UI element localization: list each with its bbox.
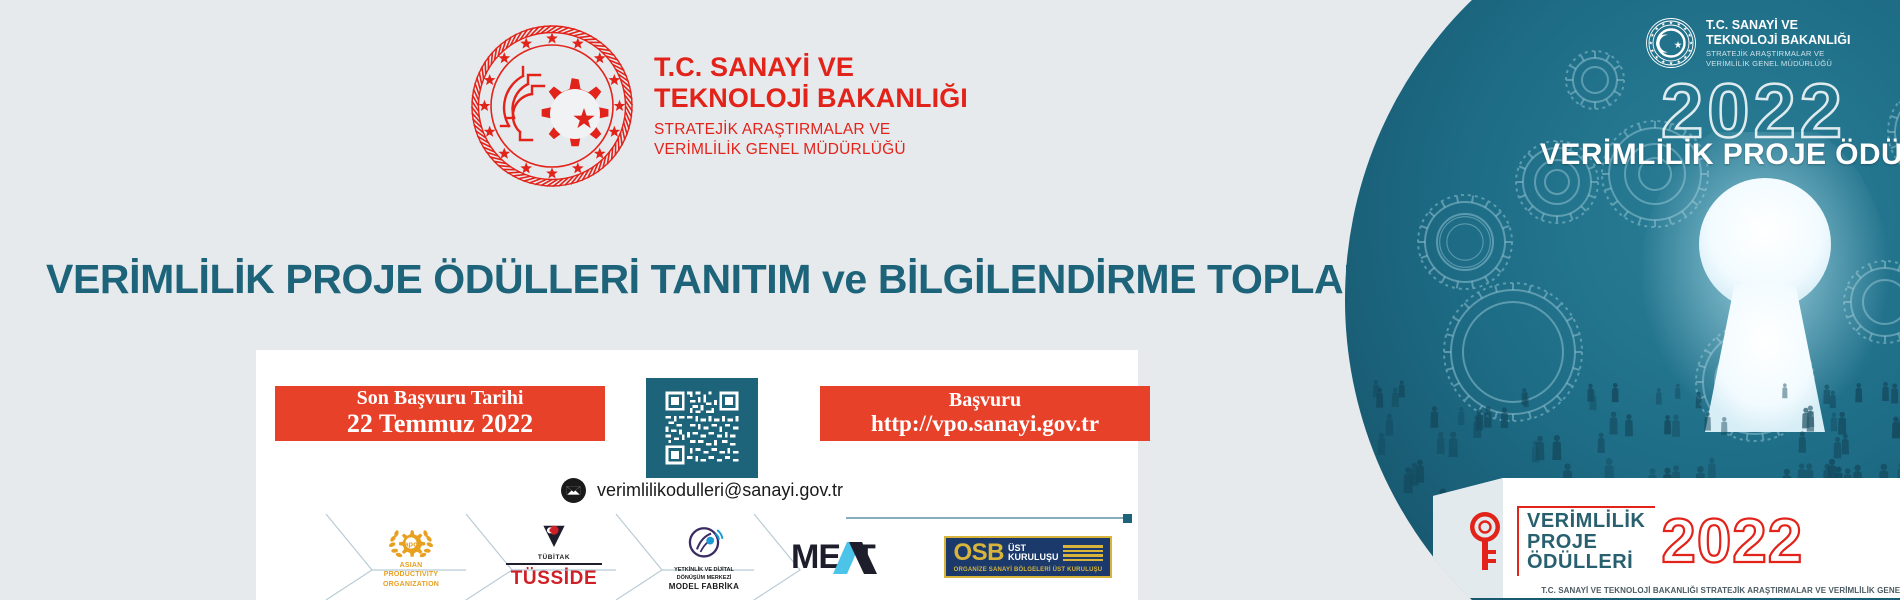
deadline-badge: Son Başvuru Tarihi 22 Temmuz 2022 [275, 386, 605, 441]
email-row[interactable]: verimlilikodulleri@sanayi.gov.tr [561, 478, 843, 503]
ministry-subtitle-line2: VERİMLİLİK GENEL MÜDÜRLÜĞÜ [654, 140, 968, 160]
page-title: VERİMLİLİK PROJE ÖDÜLLERİ TANITIM ve BİL… [46, 256, 1502, 303]
ministry-title-line1: T.C. SANAYİ VE [654, 52, 968, 83]
tusside-logo: TÜBİTAK TÜSSİDE [484, 514, 624, 600]
apply-badge-url: http://vpo.sanayi.gov.tr [871, 411, 1099, 437]
poster-subtitle: VERİMLİLİK PROJE ÖDÜLLERİ [1540, 138, 1900, 172]
osb-logo: OSB ÜST KURULUŞU ORGANİZE SANAYİ BÖLGELE… [928, 514, 1128, 600]
qr-code-icon[interactable] [646, 378, 758, 478]
headline-conjunction: ve [822, 256, 867, 302]
osb-footer-label: ORGANİZE SANAYİ BÖLGELERİ ÜST KURULUŞU [953, 567, 1102, 573]
award-band-year: 2022 [1661, 506, 1803, 577]
award-poster-graphic: T.C. SANAYİ VE TEKNOLOJİ BAKANLIĞI STRAT… [1345, 0, 1900, 600]
model-fabrika-line2: DÖNÜŞÜM MERKEZİ [674, 575, 734, 583]
mext-logo: ME T [774, 514, 934, 600]
tusside-rule [506, 563, 602, 565]
osb-sub-line2: KURULUŞU [1008, 553, 1059, 562]
model-fabrika-mark-icon [679, 523, 729, 567]
osb-main-label: OSB [953, 542, 1004, 565]
turkish-ministry-emblem-icon [468, 22, 636, 190]
ministry-subtitle-line1: STRATEJİK ARAŞTIRMALAR VE [654, 120, 968, 140]
headline-part1: VERİMLİLİK PROJE ÖDÜLLERİ TANITIM [46, 256, 822, 302]
award-band-line1: VERİMLİLİK [1527, 511, 1645, 532]
ministry-title-line2: TEKNOLOJİ BAKANLIĞI [654, 83, 968, 114]
apply-badge[interactable]: Başvuru http://vpo.sanayi.gov.tr [820, 386, 1150, 441]
ministry-logo-lockup: T.C. SANAYİ VE TEKNOLOJİ BAKANLIĞI STRAT… [468, 22, 968, 190]
poster-ministry-line2: TEKNOLOJİ BAKANLIĞI [1706, 33, 1850, 48]
tubitak-label: TÜBİTAK [538, 554, 570, 561]
apo-line3: ORGANIZATION [383, 580, 439, 589]
svg-text:apo: apo [404, 539, 418, 548]
model-fabrika-line1: YETKİNLİK VE DİJİTAL [674, 567, 734, 575]
deadline-badge-value: 22 Temmuz 2022 [347, 409, 533, 438]
model-fabrika-logo: YETKİNLİK VE DİJİTAL DÖNÜŞÜM MERKEZİ MOD… [634, 514, 774, 600]
apo-logo: apo ASIAN PRODUCTIVITY ORGANIZATION [346, 514, 476, 600]
key-award-icon [1463, 510, 1507, 572]
email-address: verimlilikodulleri@sanayi.gov.tr [597, 480, 843, 501]
apo-mark-icon: apo [385, 525, 437, 561]
tusside-label: TÜSSİDE [511, 568, 598, 590]
poster-ministry-line3: STRATEJİK ARAŞTIRMALAR VE [1706, 49, 1850, 58]
award-band-line3: ÖDÜLLERİ [1527, 552, 1645, 573]
poster-ministry-line4: VERİMLİLİK GENEL MÜDÜRLÜĞÜ [1706, 59, 1850, 68]
ministry-logo-text: T.C. SANAYİ VE TEKNOLOJİ BAKANLIĞI STRAT… [654, 52, 968, 160]
model-fabrika-line3: MODEL FABRİKA [669, 582, 739, 591]
poster-footnote: T.C. SANAYİ VE TEKNOLOJİ BAKANLIĞI STRAT… [1441, 586, 1900, 595]
envelope-icon [561, 478, 586, 503]
poster-ministry-logo: T.C. SANAYİ VE TEKNOLOJİ BAKANLIĞI STRAT… [1645, 17, 1850, 69]
info-card: Son Başvuru Tarihi 22 Temmuz 2022 [256, 350, 1138, 600]
tubitak-mark-icon [534, 524, 574, 554]
award-band-line2: PROJE [1527, 532, 1645, 553]
apply-badge-title: Başvuru [949, 390, 1021, 411]
osb-bars-icon [1063, 545, 1103, 561]
mext-mark-icon: ME T [789, 536, 919, 578]
partner-logo-strip: apo ASIAN PRODUCTIVITY ORGANIZATION TÜBİ… [256, 514, 1138, 600]
award-band: VERİMLİLİK PROJE ÖDÜLLERİ 2022 [1463, 500, 1900, 582]
turkish-ministry-emblem-icon [1645, 17, 1697, 69]
poster-ministry-line1: T.C. SANAYİ VE [1706, 18, 1850, 33]
svg-text:ME: ME [791, 538, 840, 576]
poster-banner: T.C. SANAYİ VE TEKNOLOJİ BAKANLIĞI STRAT… [0, 0, 1900, 600]
deadline-badge-title: Son Başvuru Tarihi [357, 388, 524, 409]
apo-line2: PRODUCTIVITY [383, 570, 439, 579]
apo-line1: ASIAN [383, 561, 439, 570]
